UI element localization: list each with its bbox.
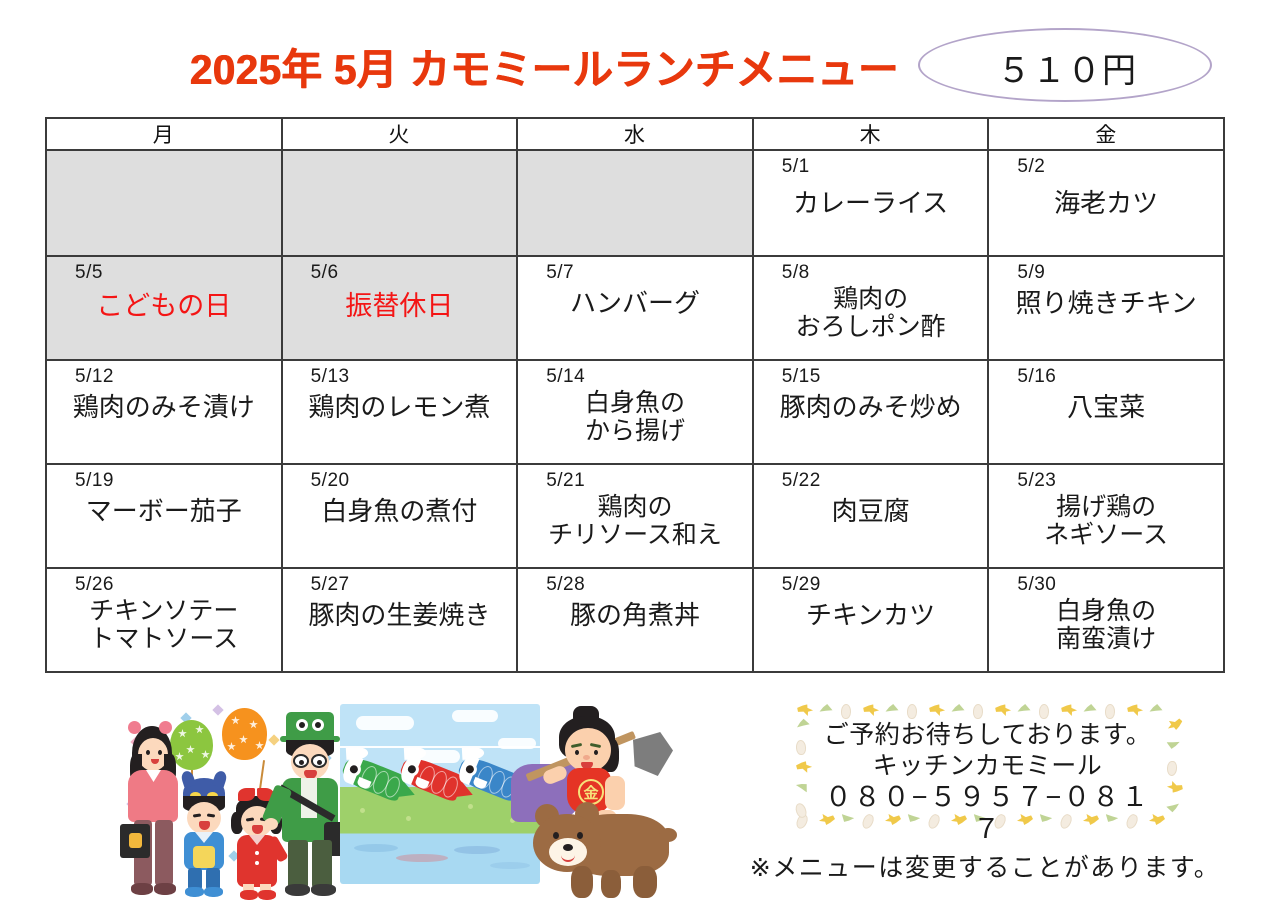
- page-header: 2025年 5月 カモミールランチメニュー ５１０円: [0, 0, 1280, 112]
- bear-tail: [659, 828, 677, 842]
- shop-name: キッチンカモミール: [817, 751, 1158, 781]
- table-row: 5/12鶏肉のみそ漬け5/13鶏肉のレモン煮5/14白身魚の から揚げ5/15豚…: [46, 360, 1224, 464]
- illustration-strip: 金: [0, 694, 700, 905]
- cell-dish-name: ハンバーグ: [518, 283, 752, 318]
- cell-dish-name: 揚げ鶏の ネギソース: [989, 491, 1223, 549]
- floral-bud-ornament: [907, 704, 918, 719]
- cell-date-label: 5/7: [518, 257, 752, 283]
- cell-date-label: 5/9: [989, 257, 1223, 283]
- person-boy: [180, 794, 234, 898]
- grass-dot: [360, 808, 365, 813]
- table-row: 5/26チキンソテー トマトソース5/27豚肉の生姜焼き5/28豚の角煮丼5/2…: [46, 568, 1224, 672]
- cell-date-label: 5/16: [989, 361, 1223, 387]
- cell-date-label: 5/26: [47, 569, 281, 595]
- table-header-row: 月 火 水 木 金: [46, 118, 1224, 150]
- bear-nose: [563, 844, 573, 851]
- water-ripple: [396, 854, 448, 862]
- table-row: 5/5こどもの日5/6振替休日5/7ハンバーグ5/8鶏肉の おろしポン酢5/9照…: [46, 256, 1224, 360]
- grass-dot: [468, 804, 473, 809]
- floral-bird-ornament: [928, 702, 946, 717]
- cell-date-label: 5/22: [754, 465, 988, 491]
- cell-date-label: 5/19: [47, 465, 281, 491]
- family-with-balloons-illustration: [118, 702, 348, 898]
- cell-date-label: 5/30: [989, 569, 1223, 595]
- calendar-cell: 5/22肉豆腐: [753, 464, 989, 568]
- contact-text-block: ご予約お待ちしております。 キッチンカモミール ０８０−５９５７−０８１７: [817, 721, 1158, 845]
- calendar-cell: 5/2海老カツ: [988, 150, 1224, 256]
- cell-dish-name: 海老カツ: [989, 177, 1223, 218]
- floral-leaf-ornament: [1148, 703, 1163, 715]
- column-header-monday: 月: [46, 118, 282, 150]
- confetti-dot: [268, 734, 279, 745]
- water-ripple: [454, 846, 500, 854]
- cell-date-label: 5/29: [754, 569, 988, 595]
- cell-dish-name: チキンソテー トマトソース: [47, 595, 281, 653]
- cell-dish-name: 鶏肉の チリソース和え: [518, 491, 752, 549]
- backpack: [193, 846, 215, 868]
- floral-bud-ornament: [841, 704, 852, 719]
- floral-leaf-ornament: [884, 703, 899, 715]
- cell-date-label: 5/13: [283, 361, 517, 387]
- cell-date-label: 5/8: [754, 257, 988, 283]
- price-badge: ５１０円: [918, 28, 1212, 102]
- calendar-cell-empty: [46, 150, 282, 256]
- menu-change-disclaimer: ※メニューは変更することがあります。: [745, 848, 1225, 884]
- table-row: 5/1カレーライス5/2海老カツ: [46, 150, 1224, 256]
- bear: [527, 804, 677, 900]
- cell-dish-name: 豚肉のみそ炒め: [754, 387, 988, 422]
- floral-bud-ornament: [1039, 704, 1050, 719]
- calendar-cell: 5/6振替休日: [282, 256, 518, 360]
- page-title: 2025年 5月 カモミールランチメニュー: [190, 36, 899, 97]
- cell-dish-name: マーボー茄子: [47, 491, 281, 526]
- table-body: 5/1カレーライス5/2海老カツ5/5こどもの日5/6振替休日5/7ハンバーグ5…: [46, 150, 1224, 672]
- cell-dish-name: 豚肉の生姜焼き: [283, 595, 517, 630]
- cell-dish-name: カレーライス: [754, 177, 988, 218]
- cell-date-label: 5/1: [754, 151, 988, 177]
- cell-dish-name: 白身魚の から揚げ: [518, 387, 752, 445]
- cell-date-label: 5/6: [283, 257, 517, 283]
- menu-calendar: 月 火 水 木 金 5/1カレーライス5/2海老カツ5/5こどもの日5/6振替休…: [45, 117, 1225, 673]
- floral-bird-ornament: [1060, 702, 1078, 717]
- calendar-cell: 5/20白身魚の煮付: [282, 464, 518, 568]
- balloon-orange: [222, 708, 267, 760]
- calendar-cell-empty: [517, 150, 753, 256]
- cell-date-label: 5/23: [989, 465, 1223, 491]
- calendar-cell: 5/28豚の角煮丼: [517, 568, 753, 672]
- floral-leaf-ornament: [795, 717, 810, 730]
- calendar-cell: 5/26チキンソテー トマトソース: [46, 568, 282, 672]
- cell-dish-name: 鶏肉の おろしポン酢: [754, 283, 988, 341]
- calendar-cell: 5/23揚げ鶏の ネギソース: [988, 464, 1224, 568]
- floral-bird-ornament: [795, 759, 813, 773]
- floral-leaf-ornament: [1166, 801, 1181, 814]
- floral-leaf-ornament: [818, 703, 833, 715]
- floral-bud-ornament: [794, 813, 809, 831]
- floral-leaf-ornament: [1082, 703, 1097, 715]
- floral-bird-ornament: [994, 702, 1012, 717]
- cloud: [356, 716, 414, 730]
- contact-panel: ご予約お待ちしております。 キッチンカモミール ０８０−５９５７−０８１７: [795, 703, 1180, 827]
- column-header-thursday: 木: [753, 118, 989, 150]
- floral-bud-ornament: [795, 740, 806, 756]
- calendar-cell-empty: [282, 150, 518, 256]
- calendar-cell: 5/8鶏肉の おろしポン酢: [753, 256, 989, 360]
- person-father: [280, 714, 344, 898]
- calendar-cell: 5/7ハンバーグ: [517, 256, 753, 360]
- floral-bird-ornament: [1126, 702, 1144, 717]
- cell-dish-name: 鶏肉のレモン煮: [283, 387, 517, 422]
- column-header-friday: 金: [988, 118, 1224, 150]
- floral-bud-ornament: [973, 704, 984, 719]
- cell-dish-name: 白身魚の 南蛮漬け: [989, 595, 1223, 653]
- confetti-dot: [212, 704, 223, 715]
- calendar-cell: 5/14白身魚の から揚げ: [517, 360, 753, 464]
- cell-holiday-label: こどもの日: [47, 283, 281, 321]
- floral-bird-ornament: [862, 702, 880, 717]
- price-badge-label: ５１０円: [920, 30, 1214, 104]
- floral-bird-ornament: [1166, 717, 1185, 733]
- cell-dish-name: 八宝菜: [989, 387, 1223, 422]
- hair-ribbon: [238, 788, 255, 801]
- kintaro-riding-bear-illustration: 金: [505, 702, 690, 900]
- calendar-cell: 5/13鶏肉のレモン煮: [282, 360, 518, 464]
- floral-bird-ornament: [796, 702, 814, 717]
- calendar-cell: 5/29チキンカツ: [753, 568, 989, 672]
- menu-table: 月 火 水 木 金 5/1カレーライス5/2海老カツ5/5こどもの日5/6振替休…: [45, 117, 1225, 673]
- calendar-cell: 5/19マーボー茄子: [46, 464, 282, 568]
- kintaro-bib-kanji: 金: [578, 779, 604, 805]
- cell-date-label: 5/2: [989, 151, 1223, 177]
- cell-date-label: 5/20: [283, 465, 517, 491]
- calendar-cell: 5/21鶏肉の チリソース和え: [517, 464, 753, 568]
- floral-leaf-ornament: [795, 779, 811, 793]
- cell-date-label: 5/27: [283, 569, 517, 595]
- grass-dot: [406, 816, 411, 821]
- cell-date-label: 5/21: [518, 465, 752, 491]
- cell-dish-name: 鶏肉のみそ漬け: [47, 387, 281, 422]
- cell-dish-name: 豚の角煮丼: [518, 595, 752, 630]
- cloud: [452, 710, 498, 722]
- floral-bird-ornament: [1166, 780, 1184, 795]
- person-mother: [124, 728, 186, 898]
- cell-date-label: 5/14: [518, 361, 752, 387]
- column-header-tuesday: 火: [282, 118, 518, 150]
- calendar-cell: 5/9照り焼きチキン: [988, 256, 1224, 360]
- cell-date-label: 5/28: [518, 569, 752, 595]
- cell-dish-name: 肉豆腐: [754, 491, 988, 526]
- cell-holiday-label: 振替休日: [283, 283, 517, 321]
- floral-leaf-ornament: [1166, 739, 1180, 750]
- calendar-cell: 5/5こどもの日: [46, 256, 282, 360]
- table-row: 5/19マーボー茄子5/20白身魚の煮付5/21鶏肉の チリソース和え5/22肉…: [46, 464, 1224, 568]
- column-header-wednesday: 水: [517, 118, 753, 150]
- floral-leaf-ornament: [950, 703, 965, 715]
- calendar-cell: 5/27豚肉の生姜焼き: [282, 568, 518, 672]
- floral-leaf-ornament: [1016, 703, 1031, 715]
- handbag: [120, 824, 150, 858]
- cell-dish-name: チキンカツ: [754, 595, 988, 630]
- calendar-cell: 5/15豚肉のみそ炒め: [753, 360, 989, 464]
- floral-bud-ornament: [1105, 704, 1116, 719]
- cell-date-label: 5/15: [754, 361, 988, 387]
- cell-date-label: 5/5: [47, 257, 281, 283]
- calendar-cell: 5/12鶏肉のみそ漬け: [46, 360, 282, 464]
- green-hat: [286, 712, 334, 740]
- cell-dish-name: 白身魚の煮付: [283, 491, 517, 526]
- floral-bud-ornament: [1166, 761, 1177, 777]
- cell-date-label: 5/12: [47, 361, 281, 387]
- calendar-cell: 5/16八宝菜: [988, 360, 1224, 464]
- phone-number: ０８０−５９５７−０８１７: [817, 781, 1158, 846]
- floral-bud-ornament: [794, 802, 809, 820]
- reservation-message: ご予約お待ちしております。: [817, 721, 1158, 751]
- water-ripple: [354, 844, 398, 852]
- calendar-cell: 5/30白身魚の 南蛮漬け: [988, 568, 1224, 672]
- calendar-cell: 5/1カレーライス: [753, 150, 989, 256]
- cell-dish-name: 照り焼きチキン: [989, 283, 1223, 318]
